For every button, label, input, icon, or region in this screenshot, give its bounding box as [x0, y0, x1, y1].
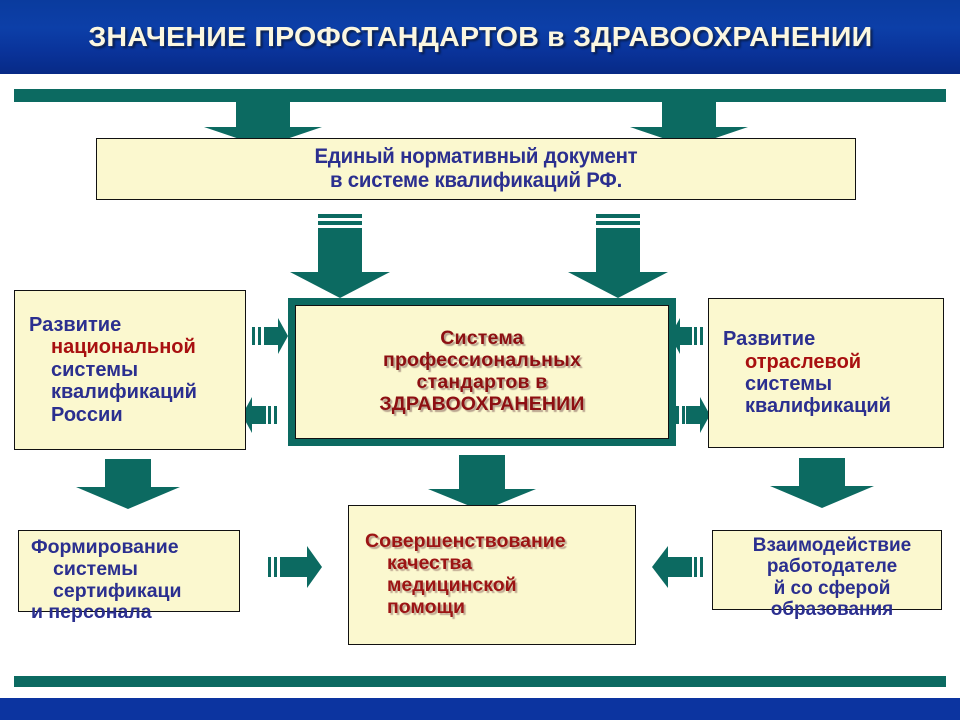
box-bottomleft-line2: системы [31, 559, 239, 581]
footer-bar-blue [0, 698, 960, 720]
box-right-line2: отраслевой [723, 351, 943, 373]
box-bottomleft-line3: сертификаци [31, 581, 239, 603]
box-bottomcenter-line2: качества [365, 553, 635, 575]
arrow-center-to-right [676, 397, 710, 433]
box-left-line3: системы [29, 359, 245, 381]
box-development-sectoral-qualification-system: Развитие отраслевой системы квалификаций [708, 298, 944, 448]
arrow-center-to-bottomcenter [428, 455, 536, 511]
box-bottomcenter-line3: медицинской [365, 575, 635, 597]
box-left-line2: национальной [29, 336, 245, 358]
box-bottomleft-line4: и персонала [31, 602, 239, 624]
arrow-bottomleft-to-bottomcenter [268, 546, 322, 588]
box-system-of-professional-standards: Система профессиональных стандартов в ЗД… [288, 298, 676, 446]
box-bottomright-line3: й со сферой [723, 578, 941, 599]
box-top-line1: Единый нормативный документ [108, 145, 843, 169]
box-bottomcenter-line4: помощи [365, 597, 635, 619]
page-title: ЗНАЧЕНИЕ ПРОФСТАНДАРТОВ в ЗДРАВООХРАНЕНИ… [88, 21, 872, 53]
box-right-line4: квалификаций [723, 395, 943, 417]
arrow-right-to-bottomright [770, 458, 874, 508]
box-bottomleft-line1: Формирование [31, 537, 239, 559]
box-unified-normative-document: Единый нормативный документ в системе кв… [96, 138, 856, 200]
box-right-line3: системы [723, 373, 943, 395]
box-employer-education-interaction: Взаимодействие работодателе й со сферой … [712, 530, 942, 610]
box-left-line4: квалификаций [29, 381, 245, 403]
box-bottomright-line1: Взаимодействие [723, 535, 941, 556]
arrow-topbox-to-center-right [568, 214, 668, 298]
arrow-center-to-left [242, 397, 277, 433]
slide-canvas: ЗНАЧЕНИЕ ПРОФСТАНДАРТОВ в ЗДРАВООХРАНЕНИ… [0, 0, 960, 720]
box-personnel-certification-system: Формирование системы сертификаци и персо… [18, 530, 240, 612]
arrow-topbox-to-center-left [290, 214, 390, 298]
box-bottomright-line4: образования [723, 599, 941, 620]
arrow-bottomright-to-bottomcenter [652, 546, 703, 588]
box-bottomcenter-line1: Совершенствование [365, 531, 635, 553]
box-development-national-qualification-system: Развитие национальной системы квалификац… [14, 290, 246, 450]
box-left-line5: России [29, 404, 245, 426]
box-center-line4: ЗДРАВООХРАНЕНИИ [295, 394, 669, 416]
box-top-line2: в системе квалификаций РФ. [108, 169, 843, 193]
arrow-left-to-bottomleft [76, 459, 180, 509]
box-center-line2: профессиональных [295, 350, 669, 372]
box-center-line1: Система [295, 328, 669, 350]
box-left-line1: Развитие [29, 314, 245, 336]
box-bottomright-line2: работодателе [723, 556, 941, 577]
divider-teal-bottom [14, 676, 946, 687]
box-improving-quality-of-medical-care: Совершенствование качества медицинской п… [348, 505, 636, 645]
arrow-left-to-center [252, 318, 288, 354]
title-banner: ЗНАЧЕНИЕ ПРОФСТАНДАРТОВ в ЗДРАВООХРАНЕНИ… [0, 0, 960, 74]
divider-teal-top [14, 89, 946, 102]
box-right-line1: Развитие [723, 328, 943, 350]
box-center-line3: стандартов в [295, 372, 669, 394]
